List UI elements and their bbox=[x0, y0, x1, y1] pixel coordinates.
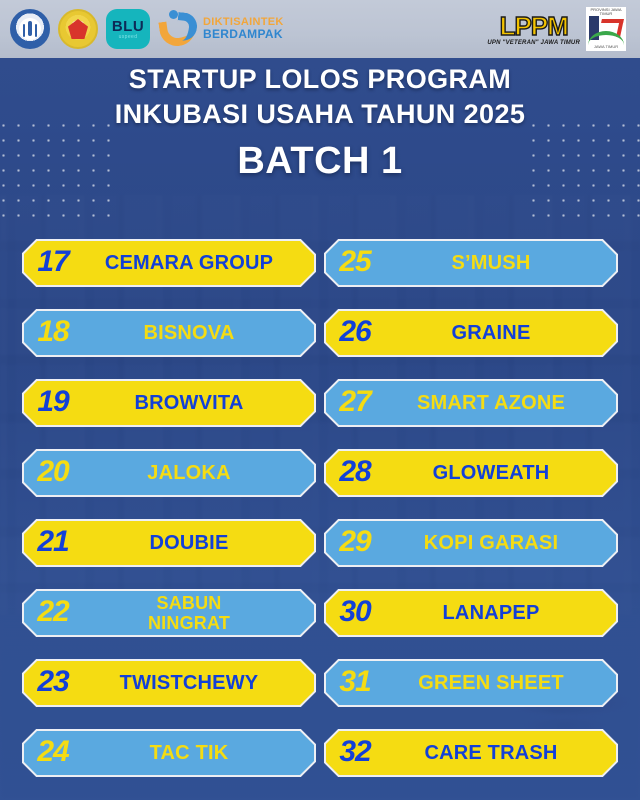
blu-logo-icon: BLU uspeed bbox=[106, 9, 150, 49]
card-startup-name: CEMARA GROUP bbox=[76, 253, 310, 273]
blu-logo-subtext: uspeed bbox=[119, 35, 138, 40]
lppm-logo-text: LPPM bbox=[487, 13, 580, 39]
card-slot: 23TWISTCHEWY bbox=[22, 648, 316, 718]
title-block: STARTUP LOLOS PROGRAM INKUBASI USAHA TAH… bbox=[0, 62, 640, 186]
card-startup-name: GREEN SHEET bbox=[378, 673, 612, 693]
startup-card[interactable]: 17CEMARA GROUP bbox=[22, 239, 316, 287]
card-startup-name: DOUBIE bbox=[76, 533, 310, 553]
title-line-2: INKUBASI USAHA TAHUN 2025 bbox=[0, 97, 640, 132]
startup-card[interactable]: 24TAC TIK bbox=[22, 729, 316, 777]
diktisaintek-logo-icon: DIKTISAINTEK BERDAMPAK bbox=[158, 10, 284, 48]
card-slot: 21DOUBIE bbox=[22, 508, 316, 578]
header-bar: BLU uspeed DIKTISAINTEK BERDAMPAK LPPM U… bbox=[0, 0, 640, 58]
kemdikbud-logo-icon bbox=[10, 9, 50, 49]
card-startup-name: S’MUSH bbox=[378, 253, 612, 273]
card-number: 21 bbox=[30, 527, 76, 559]
card-number: 20 bbox=[30, 457, 76, 489]
card-slot: 32CARE TRASH bbox=[324, 718, 618, 788]
startup-card[interactable]: 31GREEN SHEET bbox=[324, 659, 618, 707]
card-startup-name: TWISTCHEWY bbox=[76, 673, 310, 693]
startup-card[interactable]: 28GLOWEATH bbox=[324, 449, 618, 497]
card-slot: 31GREEN SHEET bbox=[324, 648, 618, 718]
card-startup-name: GRAINE bbox=[378, 323, 612, 343]
startup-card-grid: 17CEMARA GROUP18BISNOVA19BROWVITA20JALOK… bbox=[0, 228, 640, 788]
card-slot: 29KOPI GARASI bbox=[324, 508, 618, 578]
startup-card[interactable]: 25S’MUSH bbox=[324, 239, 618, 287]
card-number: 24 bbox=[30, 737, 76, 769]
card-slot: 17CEMARA GROUP bbox=[22, 228, 316, 298]
card-number: 29 bbox=[332, 527, 378, 559]
jatim-label-bottom: JAWA TIMUR bbox=[586, 44, 626, 51]
startup-card[interactable]: 21DOUBIE bbox=[22, 519, 316, 567]
card-number: 30 bbox=[332, 597, 378, 629]
title-line-1: STARTUP LOLOS PROGRAM bbox=[0, 62, 640, 97]
lppm-logo-icon: LPPM UPN "VETERAN" JAWA TIMUR bbox=[487, 13, 580, 46]
lppm-logo-subtext: UPN "VETERAN" JAWA TIMUR bbox=[487, 40, 580, 46]
card-slot: 19BROWVITA bbox=[22, 368, 316, 438]
blu-logo-text: BLU bbox=[112, 19, 144, 34]
card-startup-name: SMART AZONE bbox=[378, 393, 612, 413]
card-slot: 20JALOKA bbox=[22, 438, 316, 508]
card-slot: 28GLOWEATH bbox=[324, 438, 618, 508]
card-startup-name: CARE TRASH bbox=[378, 743, 612, 763]
card-column-left: 17CEMARA GROUP18BISNOVA19BROWVITA20JALOK… bbox=[22, 228, 316, 788]
startup-card[interactable]: 26GRAINE bbox=[324, 309, 618, 357]
card-number: 23 bbox=[30, 667, 76, 699]
jatim-logo-icon: PROVINSI JAWA TIMUR JAWA TIMUR bbox=[586, 7, 626, 51]
startup-card[interactable]: 20JALOKA bbox=[22, 449, 316, 497]
jatim-label-top: PROVINSI JAWA TIMUR bbox=[586, 7, 626, 15]
card-slot: 30LANAPEP bbox=[324, 578, 618, 648]
card-number: 27 bbox=[332, 387, 378, 419]
card-startup-name: KOPI GARASI bbox=[378, 533, 612, 553]
startup-card[interactable]: 22SABUNNINGRAT bbox=[22, 589, 316, 637]
card-startup-name: SABUNNINGRAT bbox=[76, 593, 310, 633]
card-number: 26 bbox=[332, 317, 378, 349]
startup-card[interactable]: 23TWISTCHEWY bbox=[22, 659, 316, 707]
card-number: 22 bbox=[30, 597, 76, 629]
card-number: 31 bbox=[332, 667, 378, 699]
card-number: 25 bbox=[332, 247, 378, 279]
header-logos-left: BLU uspeed DIKTISAINTEK BERDAMPAK bbox=[10, 9, 284, 49]
card-startup-name: JALOKA bbox=[76, 463, 310, 483]
upn-veteran-logo-icon bbox=[58, 9, 98, 49]
card-startup-name: LANAPEP bbox=[378, 603, 612, 623]
card-slot: 18BISNOVA bbox=[22, 298, 316, 368]
card-startup-name: TAC TIK bbox=[76, 743, 310, 763]
card-number: 18 bbox=[30, 317, 76, 349]
startup-card[interactable]: 27SMART AZONE bbox=[324, 379, 618, 427]
card-number: 19 bbox=[30, 387, 76, 419]
startup-card[interactable]: 30LANAPEP bbox=[324, 589, 618, 637]
card-startup-name: BISNOVA bbox=[76, 323, 310, 343]
card-column-right: 25S’MUSH26GRAINE27SMART AZONE28GLOWEATH2… bbox=[324, 228, 618, 788]
startup-card[interactable]: 19BROWVITA bbox=[22, 379, 316, 427]
card-number: 17 bbox=[30, 247, 76, 279]
header-logos-right: LPPM UPN "VETERAN" JAWA TIMUR PROVINSI J… bbox=[487, 7, 630, 51]
card-number: 28 bbox=[332, 457, 378, 489]
card-slot: 22SABUNNINGRAT bbox=[22, 578, 316, 648]
poster-canvas: BLU uspeed DIKTISAINTEK BERDAMPAK LPPM U… bbox=[0, 0, 640, 800]
card-startup-name: GLOWEATH bbox=[378, 463, 612, 483]
startup-card[interactable]: 29KOPI GARASI bbox=[324, 519, 618, 567]
card-slot: 27SMART AZONE bbox=[324, 368, 618, 438]
diktisaintek-label-bottom: BERDAMPAK bbox=[203, 28, 284, 41]
diktisaintek-mark-icon bbox=[158, 10, 198, 48]
startup-card[interactable]: 32CARE TRASH bbox=[324, 729, 618, 777]
card-slot: 25S’MUSH bbox=[324, 228, 618, 298]
batch-title: BATCH 1 bbox=[0, 137, 640, 186]
card-slot: 26GRAINE bbox=[324, 298, 618, 368]
card-startup-name: BROWVITA bbox=[76, 393, 310, 413]
card-slot: 24TAC TIK bbox=[22, 718, 316, 788]
startup-card[interactable]: 18BISNOVA bbox=[22, 309, 316, 357]
card-number: 32 bbox=[332, 737, 378, 769]
